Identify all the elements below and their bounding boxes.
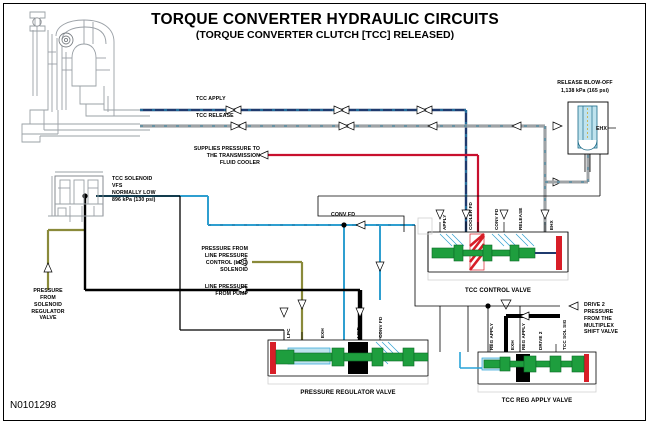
label-cooler-supply: SUPPLIES PRESSURE TO THE TRANSMISSION FL… [168, 146, 260, 167]
valve-name-tcc-reg-apply: TCC REG APPLY VALVE [478, 398, 596, 406]
label-drive2-pressure: DRIVE 2 PRESSURE FROM THE MULTIPLEX SHIF… [584, 302, 618, 336]
label-release-blowoff-line1: RELEASE BLOW-OFF [548, 80, 622, 87]
port-label-conv-fd-reg: CONV FD [378, 317, 383, 338]
port-label-tcc-sol-sig: TCC SOL SIG [562, 320, 567, 350]
port-label-drive2: DRIVE 2 [538, 331, 543, 350]
label-tcc-solenoid: TCC SOLENOID VFS NORMALLY LOW 896 kPa (1… [112, 176, 156, 203]
label-conv-fd: CONV FD [331, 212, 355, 219]
hydraulic-schematic [0, 0, 650, 425]
pressure-regulator-valve [268, 308, 428, 384]
conv-fd-line [96, 196, 415, 352]
port-label-exh: EXH [320, 328, 325, 338]
port-label-line: LINE [356, 327, 361, 338]
label-port-ehx-blowoff: EHX [596, 126, 607, 133]
drive2-arrow [569, 302, 578, 310]
tcc-solenoid-drawing [48, 172, 103, 222]
port-label-lpc: LPC [286, 329, 291, 339]
valve-name-tcc-control: TCC CONTROL VALVE [428, 288, 568, 296]
label-tcc-apply: TCC APPLY [196, 96, 226, 103]
label-lpc-solenoid: PRESSURE FROM LINE PRESSURE CONTROL (LPC… [186, 246, 248, 273]
label-tcc-release: TCC RELEASE [196, 113, 234, 120]
port-label-conv-fd: CONV FD [494, 209, 499, 230]
label-solenoid-regulator-valve: PRESSURE FROM SOLENOID REGULATOR VALVE [16, 288, 80, 322]
port-label-apply: APPLY [442, 215, 447, 230]
port-label-reg-apply-1: REG APPLY [489, 323, 494, 350]
label-line-pressure-from-pump: LINE PRESSURE FROM PUMP [186, 284, 248, 298]
diagram-canvas: TORQUE CONVERTER HYDRAULIC CIRCUITS (TOR… [0, 0, 650, 425]
release-blowoff-branch [545, 152, 588, 182]
label-release-blowoff-line2: 1,138 kPa (165 psi) [548, 88, 622, 95]
torque-converter-assembly [22, 12, 150, 142]
port-label-reg-apply-2: REG APPLY [521, 323, 526, 350]
part-number: N0101298 [10, 400, 56, 411]
valve-name-pressure-regulator: PRESSURE REGULATOR VALVE [268, 390, 428, 398]
solenoid-regulator-supply [44, 230, 86, 290]
port-label-release: RELEASE [518, 208, 523, 230]
release-blowoff-valve [568, 102, 616, 172]
tcc-reg-apply-valve [460, 344, 596, 392]
port-label-exh-2: EXH [510, 340, 515, 350]
port-label-ehx: EHX [549, 220, 554, 230]
port-label-cooler-fd: COOLER FD [468, 202, 473, 230]
